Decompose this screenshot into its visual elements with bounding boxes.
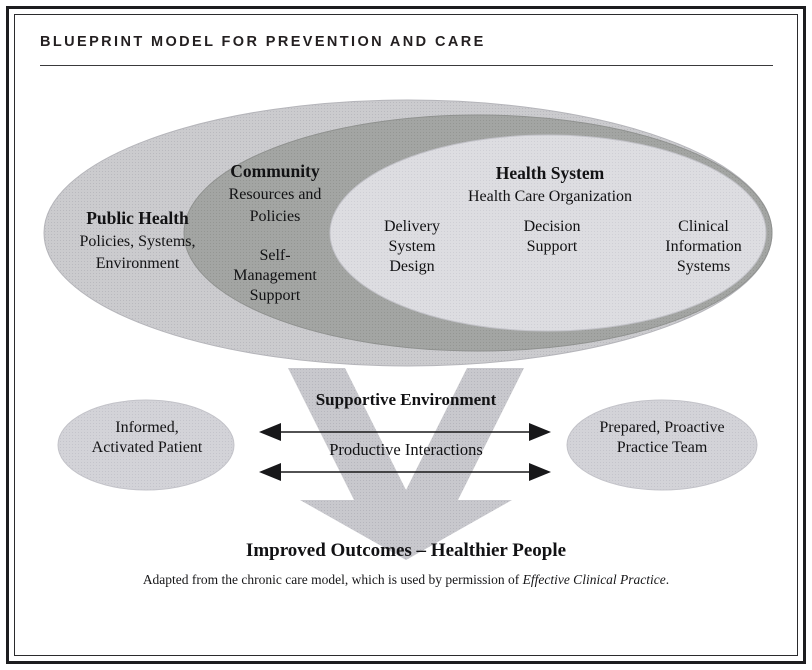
informed-line-1: Informed, bbox=[115, 419, 179, 436]
label-health-system: Health System Health Care Organization bbox=[395, 163, 705, 207]
caption-prefix: Adapted from the chronic care model, whi… bbox=[143, 572, 523, 587]
label-community: Community Resources and Policies bbox=[196, 161, 354, 226]
clinical-line-3: Systems bbox=[677, 258, 730, 275]
delivery-line-1: Delivery bbox=[384, 218, 440, 235]
health-system-heading: Health System bbox=[496, 163, 604, 183]
public-health-sub-2: Environment bbox=[96, 255, 180, 272]
label-clinical-information-systems: Clinical Information Systems bbox=[636, 217, 771, 276]
label-improved-outcomes: Improved Outcomes – Healthier People bbox=[106, 539, 706, 563]
figure-caption: Adapted from the chronic care model, whi… bbox=[56, 572, 756, 588]
community-sub-2: Policies bbox=[250, 208, 301, 225]
delivery-line-2: System bbox=[388, 238, 435, 255]
clinical-line-1: Clinical bbox=[678, 218, 729, 235]
caption-source-italic: Effective Clinical Practice bbox=[523, 572, 666, 587]
label-informed-activated-patient: Informed, Activated Patient bbox=[62, 418, 232, 458]
blueprint-model-figure: BLUEPRINT MODEL FOR PREVENTION AND CARE bbox=[0, 0, 812, 670]
double-arrow-supportive-environment bbox=[259, 423, 551, 441]
label-prepared-practice-team: Prepared, Proactive Practice Team bbox=[566, 418, 758, 458]
informed-line-2: Activated Patient bbox=[92, 439, 203, 456]
self-management-line-1: Self- bbox=[259, 247, 290, 264]
health-care-organization-subheading: Health Care Organization bbox=[468, 188, 632, 205]
prepared-line-1: Prepared, Proactive bbox=[599, 419, 724, 436]
clinical-line-2: Information bbox=[665, 238, 741, 255]
label-productive-interactions: Productive Interactions bbox=[256, 440, 556, 460]
decision-line-2: Support bbox=[527, 238, 578, 255]
decision-line-1: Decision bbox=[524, 218, 581, 235]
self-management-line-3: Support bbox=[250, 287, 301, 304]
self-management-line-2: Management bbox=[233, 267, 317, 284]
public-health-sub-1: Policies, Systems, bbox=[79, 233, 195, 250]
delivery-line-3: Design bbox=[389, 258, 434, 275]
label-delivery-system-design: Delivery System Design bbox=[352, 217, 472, 276]
caption-suffix: . bbox=[666, 572, 669, 587]
diagram-canvas bbox=[0, 0, 812, 670]
label-self-management-support: Self- Management Support bbox=[196, 246, 354, 305]
label-decision-support: Decision Support bbox=[492, 217, 612, 257]
prepared-line-2: Practice Team bbox=[617, 439, 708, 456]
double-arrow-productive-interactions bbox=[259, 463, 551, 481]
label-supportive-environment: Supportive Environment bbox=[256, 389, 556, 410]
public-health-heading: Public Health bbox=[86, 208, 189, 228]
community-heading: Community bbox=[230, 161, 319, 181]
community-sub-1: Resources and bbox=[229, 186, 322, 203]
